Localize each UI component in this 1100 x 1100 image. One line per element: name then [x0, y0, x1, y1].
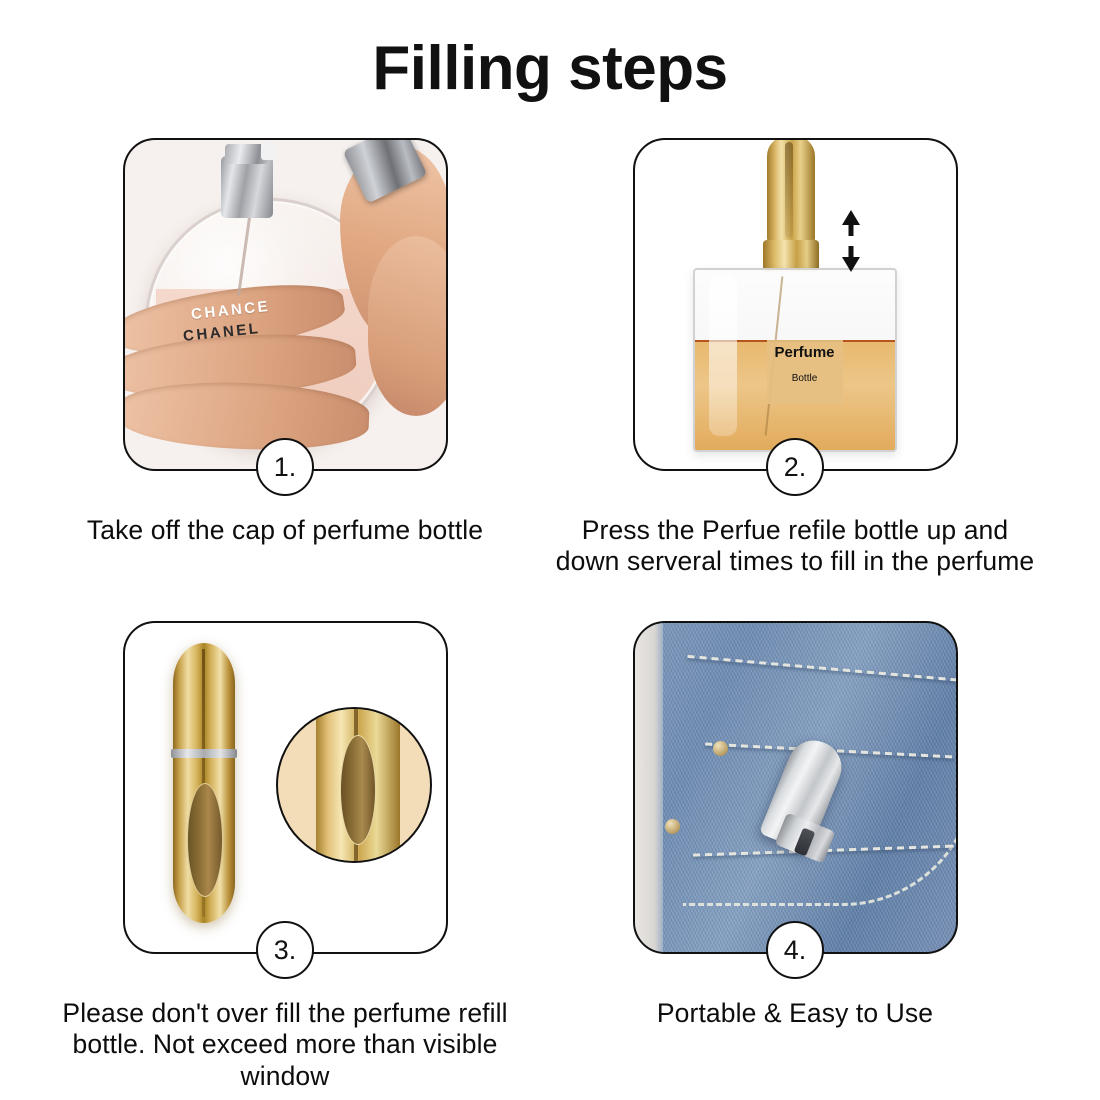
step-2-image: Perfume Bottle — [635, 140, 956, 469]
infographic-page: Filling steps CHANCE — [0, 0, 1100, 1100]
step-1-image: CHANCE CHANEL — [125, 140, 446, 469]
visible-window — [187, 783, 223, 897]
page-title: Filling steps — [372, 38, 727, 100]
step-1: CHANCE CHANEL 1. Take off the cap of per… — [30, 138, 540, 546]
bottle-label-sub: Bottle — [792, 373, 818, 384]
pocket-rivet — [665, 819, 680, 834]
atomizer-seam — [785, 142, 793, 238]
magnifier-circle — [276, 707, 432, 863]
index-finger — [368, 236, 446, 416]
photo-left-edge — [635, 623, 663, 952]
step-2-caption: Press the Perfue refile bottle up and do… — [540, 515, 1050, 578]
glass-highlight — [709, 276, 737, 436]
bottle-label-main: Perfume — [774, 345, 834, 362]
step-3-image — [125, 623, 446, 952]
bottle-label: Perfume Bottle — [767, 340, 843, 404]
up-down-arrow-icon — [840, 210, 862, 272]
step-1-image-frame: CHANCE CHANEL 1. — [123, 138, 448, 471]
step-3: 3. Please don't over fill the perfume re… — [30, 621, 540, 1092]
step-1-caption: Take off the cap of perfume bottle — [30, 515, 540, 546]
step-number-badge: 3. — [256, 921, 314, 979]
step-2-image-frame: Perfume Bottle 2. — [633, 138, 958, 471]
square-perfume-bottle: Perfume Bottle — [693, 268, 897, 452]
step-3-caption: Please don't over fill the perfume refil… — [30, 998, 540, 1092]
step-number-badge: 2. — [766, 438, 824, 496]
step-3-image-frame: 3. — [123, 621, 448, 954]
step-4-image-frame: 4. — [633, 621, 958, 954]
spray-nozzle — [261, 142, 277, 160]
step-4-caption: Portable & Easy to Use — [540, 998, 1050, 1029]
magnified-visible-window — [340, 735, 376, 845]
silver-band — [171, 749, 237, 758]
pocket-rivet — [713, 741, 728, 756]
step-number-badge: 1. — [256, 438, 314, 496]
step-4: 4. Portable & Easy to Use — [540, 621, 1050, 1029]
bottle-neck-collar — [221, 156, 273, 218]
step-4-image — [635, 623, 956, 952]
step-number-badge: 4. — [766, 921, 824, 979]
step-2: Perfume Bottle 2. Press the Perfue refil… — [540, 138, 1050, 578]
